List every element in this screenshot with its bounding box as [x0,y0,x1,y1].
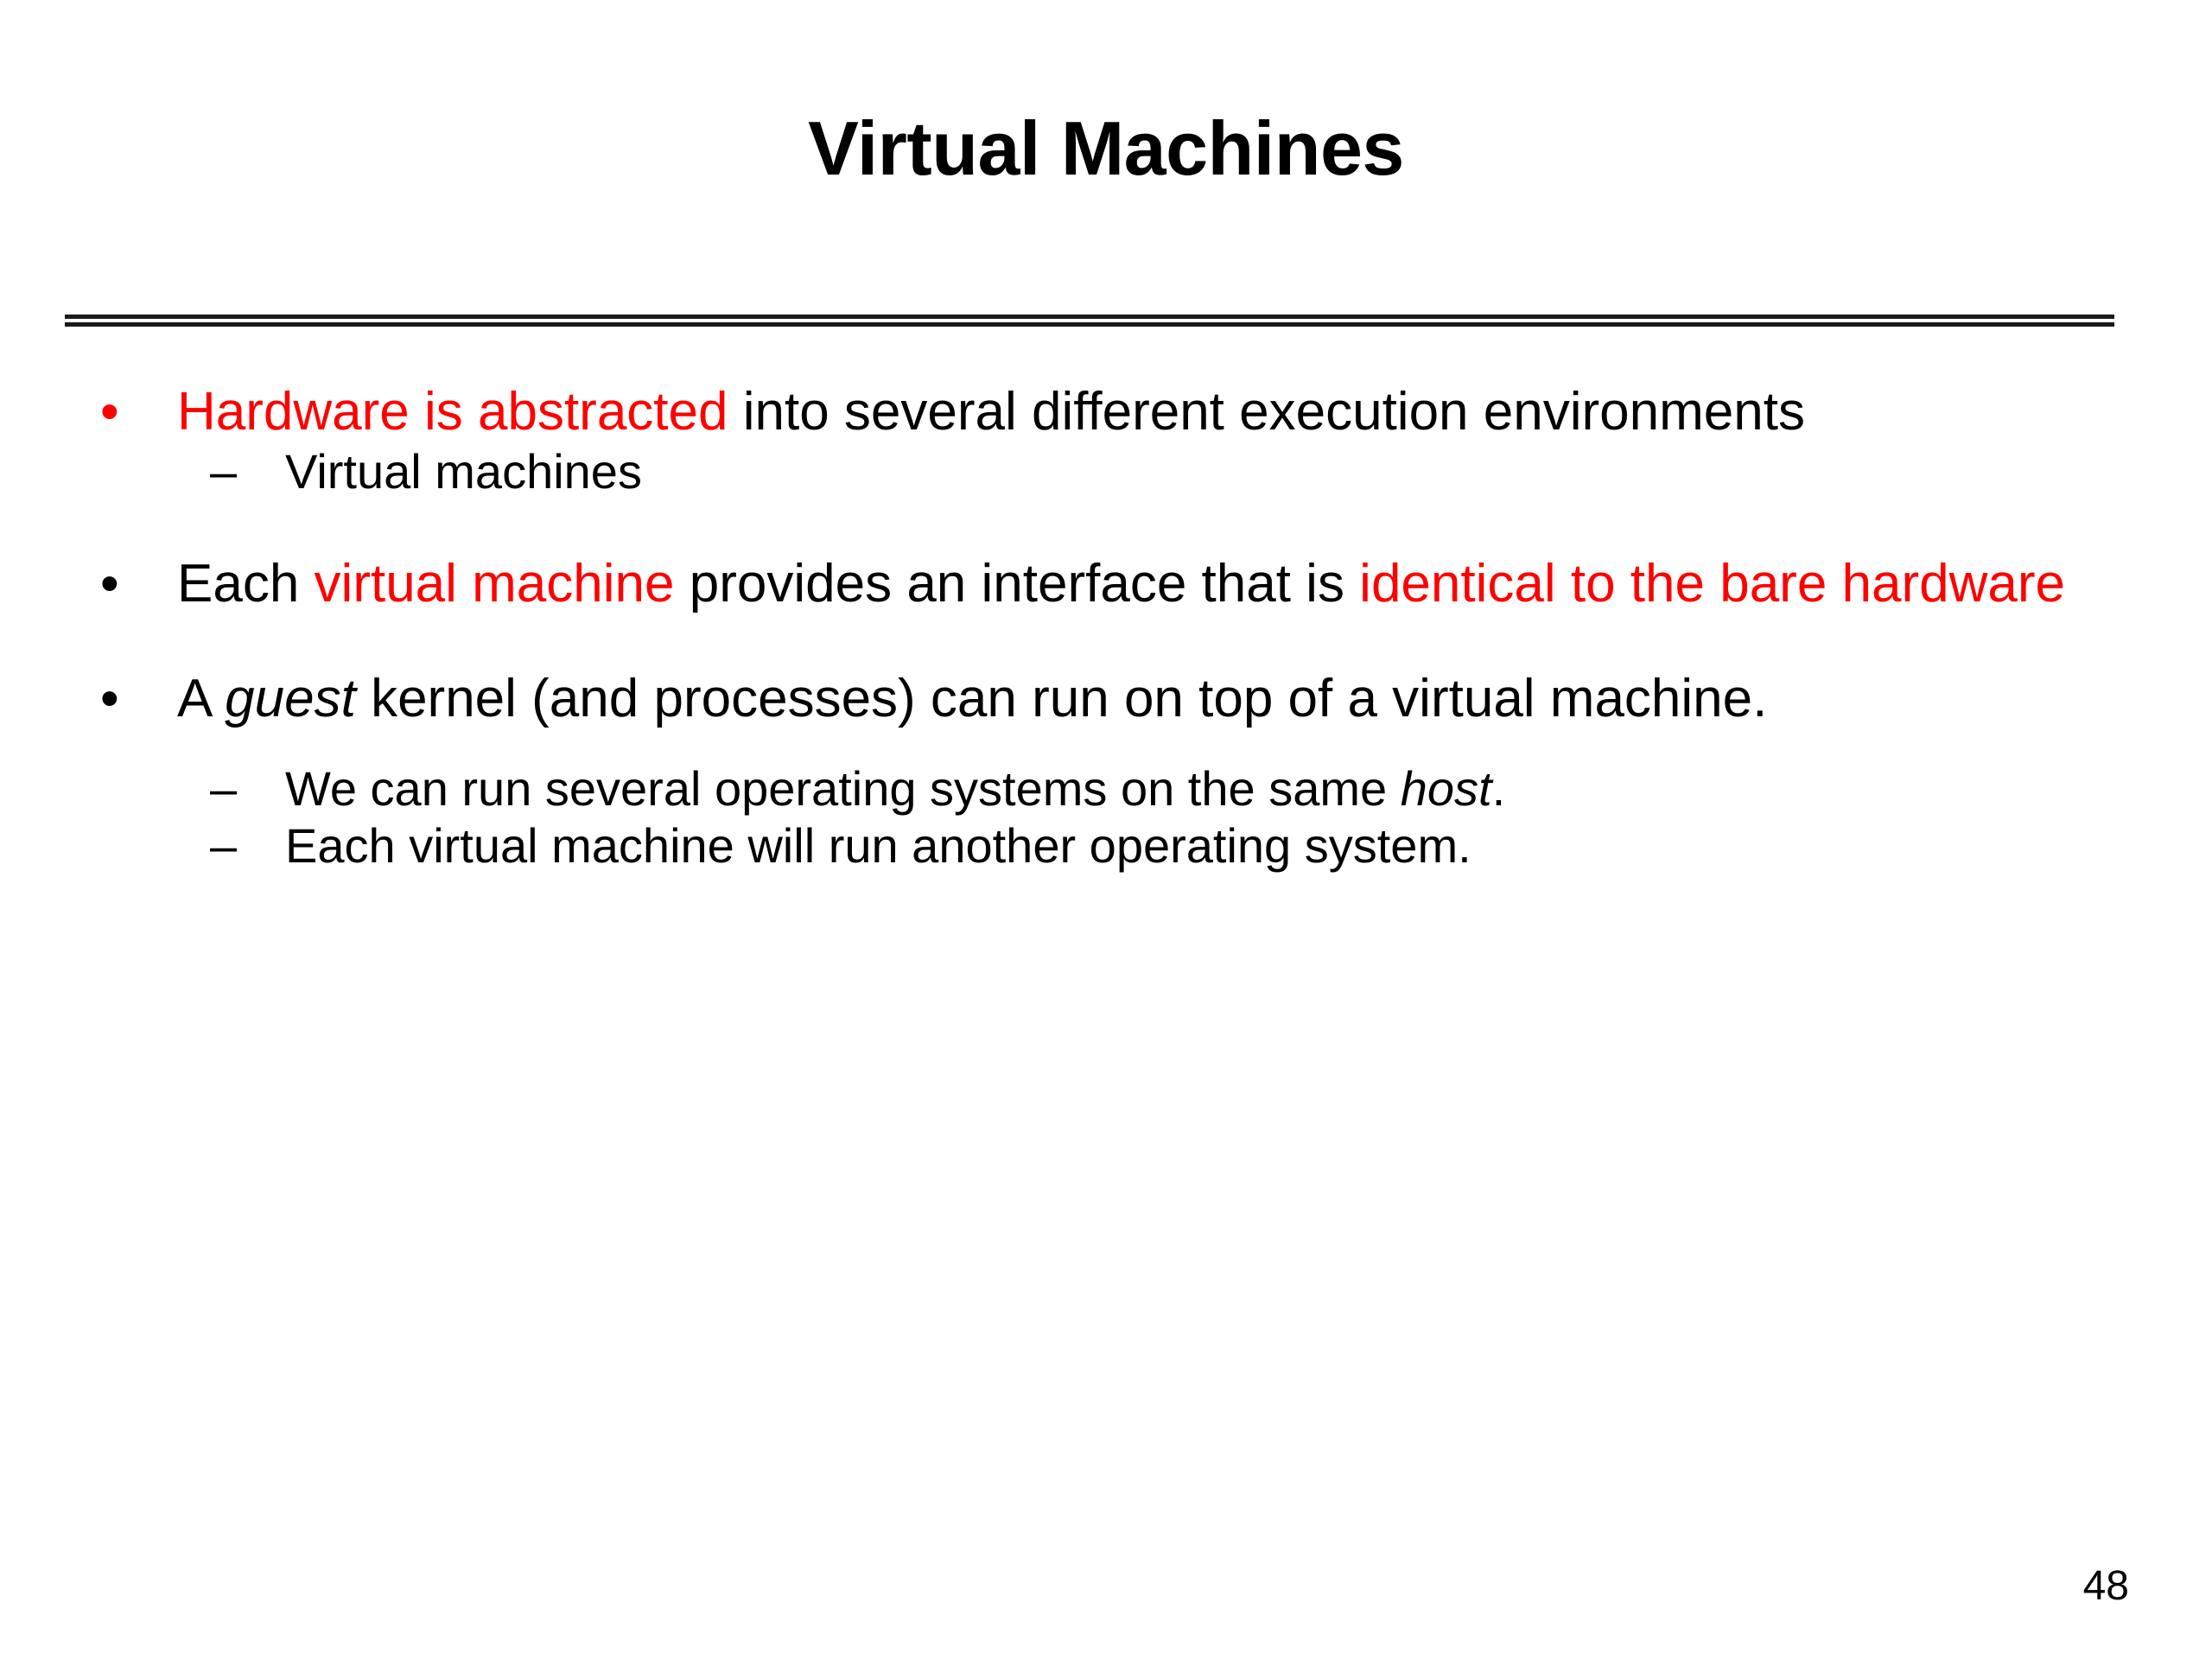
block-spacer [0,500,2212,552]
bullet-text-middle: provides an interface that is [675,554,1360,613]
sub-bullet-item-another-os: – Each virtual machine will run another … [0,817,2212,874]
bullet-text-lead: Each [177,554,315,613]
sub-bullet-dash-icon: – [210,760,237,817]
bullet-marker-icon: • [100,667,119,730]
bullet-marker-icon: • [100,380,119,443]
bullet-text-rest: into several different execution environ… [728,382,1805,442]
sub-bullet-item-same-host: – We can run several operating systems o… [0,760,2212,817]
slide-canvas: Virtual Machines • Hardware is abstracte… [0,0,2212,1659]
bullet-item-identical-interface: • Each virtual machine provides an inter… [0,552,2212,615]
page-title: Virtual Machines [0,111,2212,187]
sub-bullet-dash-icon: – [210,817,237,874]
bullet-text-highlight: Hardware is abstracted [177,382,728,442]
sub-bullet-text: Each virtual machine will run another op… [285,818,1471,873]
divider-line-top [65,315,2114,319]
sub-bullet-text-emphasis-host: host [1401,761,1492,816]
sub-bullet-dash-icon: – [210,443,237,500]
bullet-item-hardware-abstracted: • Hardware is abstracted into several di… [0,380,2212,443]
sub-bullet-text: Virtual machines [285,444,642,499]
bullet-marker-icon: • [100,552,119,615]
block-spacer [0,615,2212,667]
sub-bullet-text-rest: . [1492,761,1506,816]
sub-bullet-item-virtual-machines: – Virtual machines [0,443,2212,500]
bullet-text-lead: A [177,669,225,728]
bullet-text-emphasis-guest: guest [225,669,356,728]
page-number: 48 [2083,1566,2129,1607]
bullet-item-guest-kernel: • A guest kernel (and processes) can run… [0,667,2212,730]
block-spacer [0,731,2212,760]
slide-body: • Hardware is abstracted into several di… [0,380,2212,874]
bullet-text-highlight-2: identical to the bare hardware [1359,554,2065,613]
title-divider [65,315,2114,327]
divider-line-bottom [65,322,2114,327]
bullet-text-rest: kernel (and processes) can run on top of… [356,669,1768,728]
bullet-text-highlight-1: virtual machine [315,554,675,613]
sub-bullet-text-lead: We can run several operating systems on … [285,761,1401,816]
